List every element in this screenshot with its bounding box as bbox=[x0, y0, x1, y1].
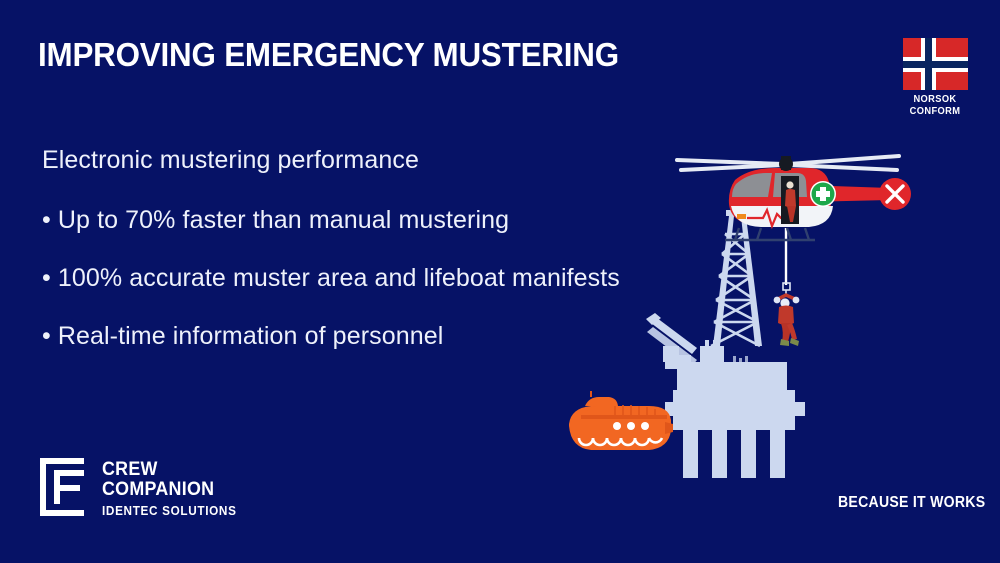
bullet-label: 100% accurate muster area and lifeboat m… bbox=[58, 264, 620, 292]
slide-root: IMPROVING EMERGENCY MUSTERING Electronic… bbox=[0, 0, 1000, 563]
page-title: IMPROVING EMERGENCY MUSTERING bbox=[38, 36, 619, 74]
bullet-marker: • bbox=[42, 264, 51, 292]
logo-line-2: COMPANION bbox=[102, 480, 237, 500]
offshore-oil-platform-icon bbox=[646, 200, 805, 478]
logo-wordmark: CREW COMPANION IDENTEC SOLUTIONS bbox=[102, 458, 245, 518]
norsok-badge: NORSOK CONFORM bbox=[900, 38, 970, 117]
norsok-line-1: NORSOK bbox=[902, 94, 967, 106]
logo-line-1: CREW bbox=[102, 460, 237, 480]
norsok-line-2: CONFORM bbox=[902, 106, 967, 118]
enclosed-lifeboat-icon bbox=[569, 391, 673, 450]
logo-company: IDENTEC SOLUTIONS bbox=[102, 504, 237, 518]
rescue-helicopter-icon bbox=[677, 156, 911, 240]
tagline: BECAUSE IT WORKS bbox=[838, 494, 985, 512]
norwegian-flag-icon bbox=[903, 38, 968, 90]
crew-companion-logo: CREW COMPANION IDENTEC SOLUTIONS bbox=[40, 458, 245, 518]
norsok-caption: NORSOK CONFORM bbox=[902, 94, 967, 117]
bullet-label: Up to 70% faster than manual mustering bbox=[58, 206, 509, 234]
illustration-group bbox=[545, 140, 995, 470]
bullet-marker: • bbox=[42, 322, 51, 350]
flag-blue-horizontal bbox=[903, 61, 968, 68]
bullet-marker: • bbox=[42, 206, 51, 234]
crew-companion-mark-icon bbox=[40, 458, 86, 516]
hoisted-rescuer-icon bbox=[774, 283, 800, 346]
bullet-label: Real-time information of personnel bbox=[58, 322, 444, 350]
